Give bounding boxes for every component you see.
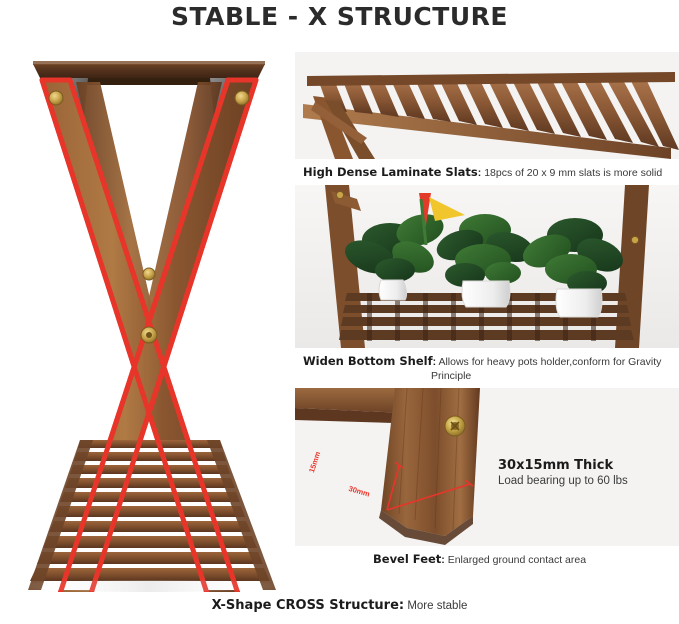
infographic-page: STABLE - X STRUCTURE xyxy=(0,0,679,624)
plants-on-shelf-illustration xyxy=(295,185,679,348)
thickness-callout-subtitle: Load bearing up to 60 lbs xyxy=(498,474,628,489)
feature-image-slats xyxy=(295,52,679,159)
footer-label: X-Shape CROSS Structure xyxy=(212,598,399,613)
caption-slats-label: High Dense Laminate Slats xyxy=(303,165,478,179)
feature-image-feet: 15mm 30mm 30x15mm Thick Load bearing up … xyxy=(295,388,679,546)
bottom-shelf-slats xyxy=(28,440,276,590)
footer-separator: : xyxy=(399,598,404,613)
caption-shelf: Widen Bottom Shelf: Allows for heavy pot… xyxy=(295,348,679,388)
hero-product-image xyxy=(8,52,290,592)
caption-feet-separator: : xyxy=(441,554,445,566)
x-structure-illustration xyxy=(8,52,290,592)
slatted-shelf-illustration xyxy=(295,52,679,159)
footer-caption: X-Shape CROSS Structure: More stable xyxy=(0,598,679,613)
feature-column: High Dense Laminate Slats: 18pcs of 20 x… xyxy=(295,52,679,592)
caption-feet-label: Bevel Feet xyxy=(373,552,441,566)
caption-slats-separator: : xyxy=(478,167,482,179)
caption-feet-text: Enlarged ground contact area xyxy=(448,554,586,566)
thickness-callout: 30x15mm Thick Load bearing up to 60 lbs xyxy=(498,458,628,489)
caption-shelf-text-line2: Principle xyxy=(303,369,679,383)
page-title: STABLE - X STRUCTURE xyxy=(0,2,679,31)
footer-text: More stable xyxy=(407,600,467,612)
caption-shelf-label: Widen Bottom Shelf xyxy=(303,354,433,368)
caption-shelf-text: Allows for heavy pots holder,conform for… xyxy=(438,356,661,368)
caption-slats-text: 18pcs of 20 x 9 mm slats is more solid xyxy=(484,167,662,179)
thickness-callout-title: 30x15mm Thick xyxy=(498,458,628,474)
caption-feet: Bevel Feet: Enlarged ground contact area xyxy=(295,546,679,572)
caption-shelf-separator: : xyxy=(433,356,437,368)
caption-slats: High Dense Laminate Slats: 18pcs of 20 x… xyxy=(295,159,679,185)
feature-image-shelf xyxy=(295,185,679,348)
